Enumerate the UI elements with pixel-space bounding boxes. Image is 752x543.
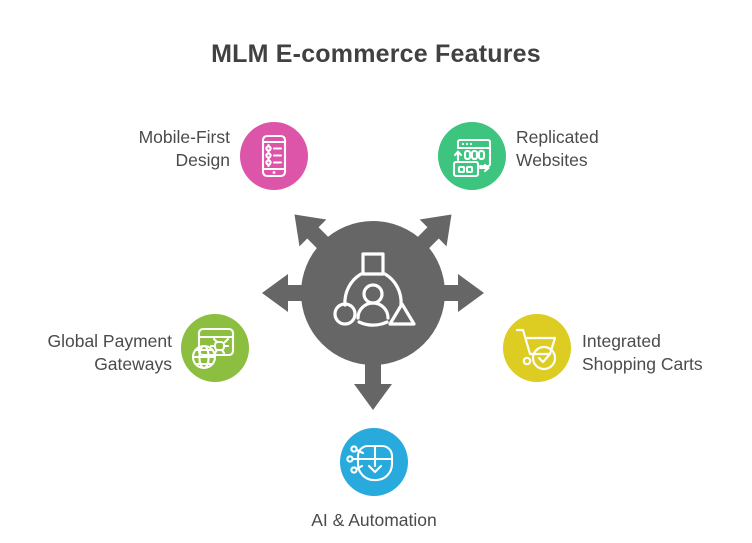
feature-label-global-payment-gateways: Global Payment Gateways — [0, 330, 172, 376]
hub-circle — [301, 221, 445, 365]
feature-node-ai-automation[interactable] — [340, 428, 408, 496]
label-line-1: AI & Automation — [276, 509, 472, 532]
feature-node-mobile-first-design[interactable] — [240, 122, 308, 190]
people-network-shapes-icon — [301, 221, 445, 365]
feature-label-mobile-first-design: Mobile-First Design — [58, 126, 230, 172]
shopping-cart-check-icon — [503, 314, 571, 382]
diagram-canvas: MLM E-commerce Features — [0, 0, 752, 543]
label-line-2: Gateways — [0, 353, 172, 376]
feature-node-global-payment-gateways[interactable] — [181, 314, 249, 382]
label-line-2: Design — [58, 149, 230, 172]
feature-label-integrated-shopping-carts: Integrated Shopping Carts — [582, 330, 752, 376]
feature-label-replicated-websites: Replicated Websites — [516, 126, 716, 172]
feature-node-integrated-shopping-carts[interactable] — [503, 314, 571, 382]
label-line-2: Shopping Carts — [582, 353, 752, 376]
label-line-1: Global Payment — [0, 330, 172, 353]
feature-node-replicated-websites[interactable] — [438, 122, 506, 190]
label-line-1: Integrated — [582, 330, 752, 353]
label-line-1: Mobile-First — [58, 126, 230, 149]
feature-label-ai-automation: AI & Automation — [276, 509, 472, 532]
credit-card-globe-icon — [181, 314, 249, 382]
browser-windows-replicate-icon — [438, 122, 506, 190]
mobile-phone-list-icon — [240, 122, 308, 190]
label-line-1: Replicated — [516, 126, 716, 149]
label-line-2: Websites — [516, 149, 716, 172]
ai-brain-chip-icon — [340, 428, 408, 496]
